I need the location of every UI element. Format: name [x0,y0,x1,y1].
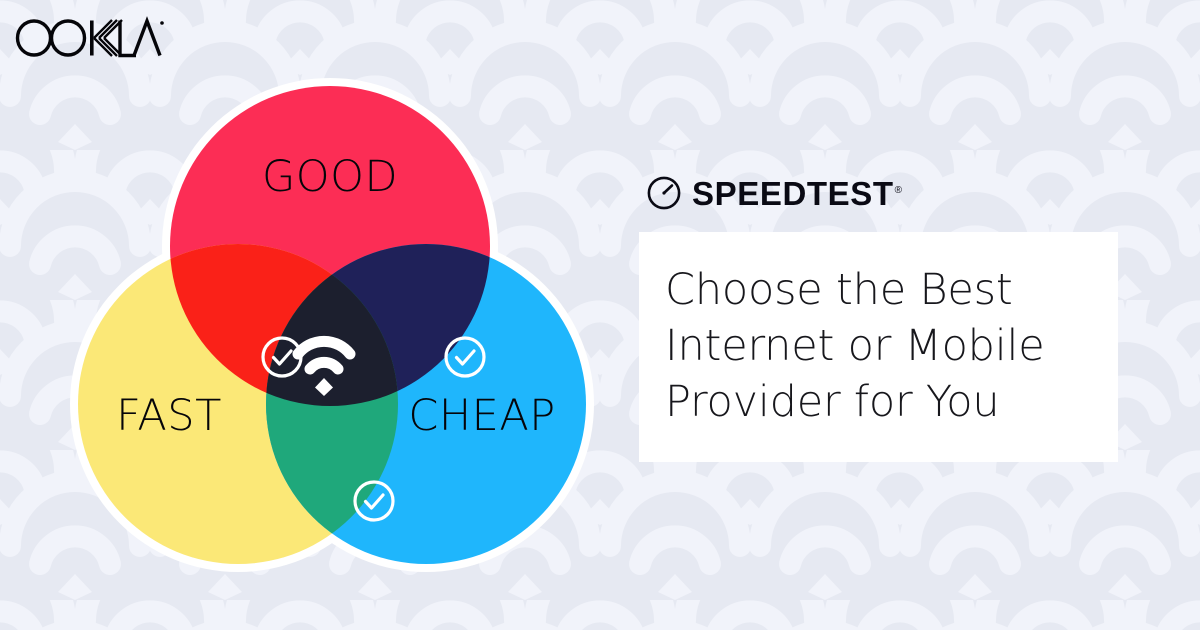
speedtest-trademark-symbol: ® [895,185,902,196]
venn-label-good: GOOD [262,152,398,202]
headline-line-2: Internet or Mobile [665,318,1092,374]
ookla-logo [14,16,164,60]
speedtest-wordmark: SPEEDTEST® [692,177,902,210]
speedtest-wordmark-text: SPEEDTEST [692,175,894,212]
headline-line-1: Choose the Best [665,262,1092,318]
right-content-column: SPEEDTEST® Choose the Best Internet or M… [639,172,1119,462]
headline-card: Choose the Best Internet or Mobile Provi… [639,232,1118,462]
speedometer-icon [647,176,681,210]
speedtest-logo: SPEEDTEST® [647,172,1119,214]
venn-label-cheap: CHEAP [408,391,555,441]
headline-line-3: Provider for You [665,374,1092,430]
venn-diagram: GOOD FAST CHEAP [52,58,612,578]
venn-label-fast: FAST [116,391,222,441]
